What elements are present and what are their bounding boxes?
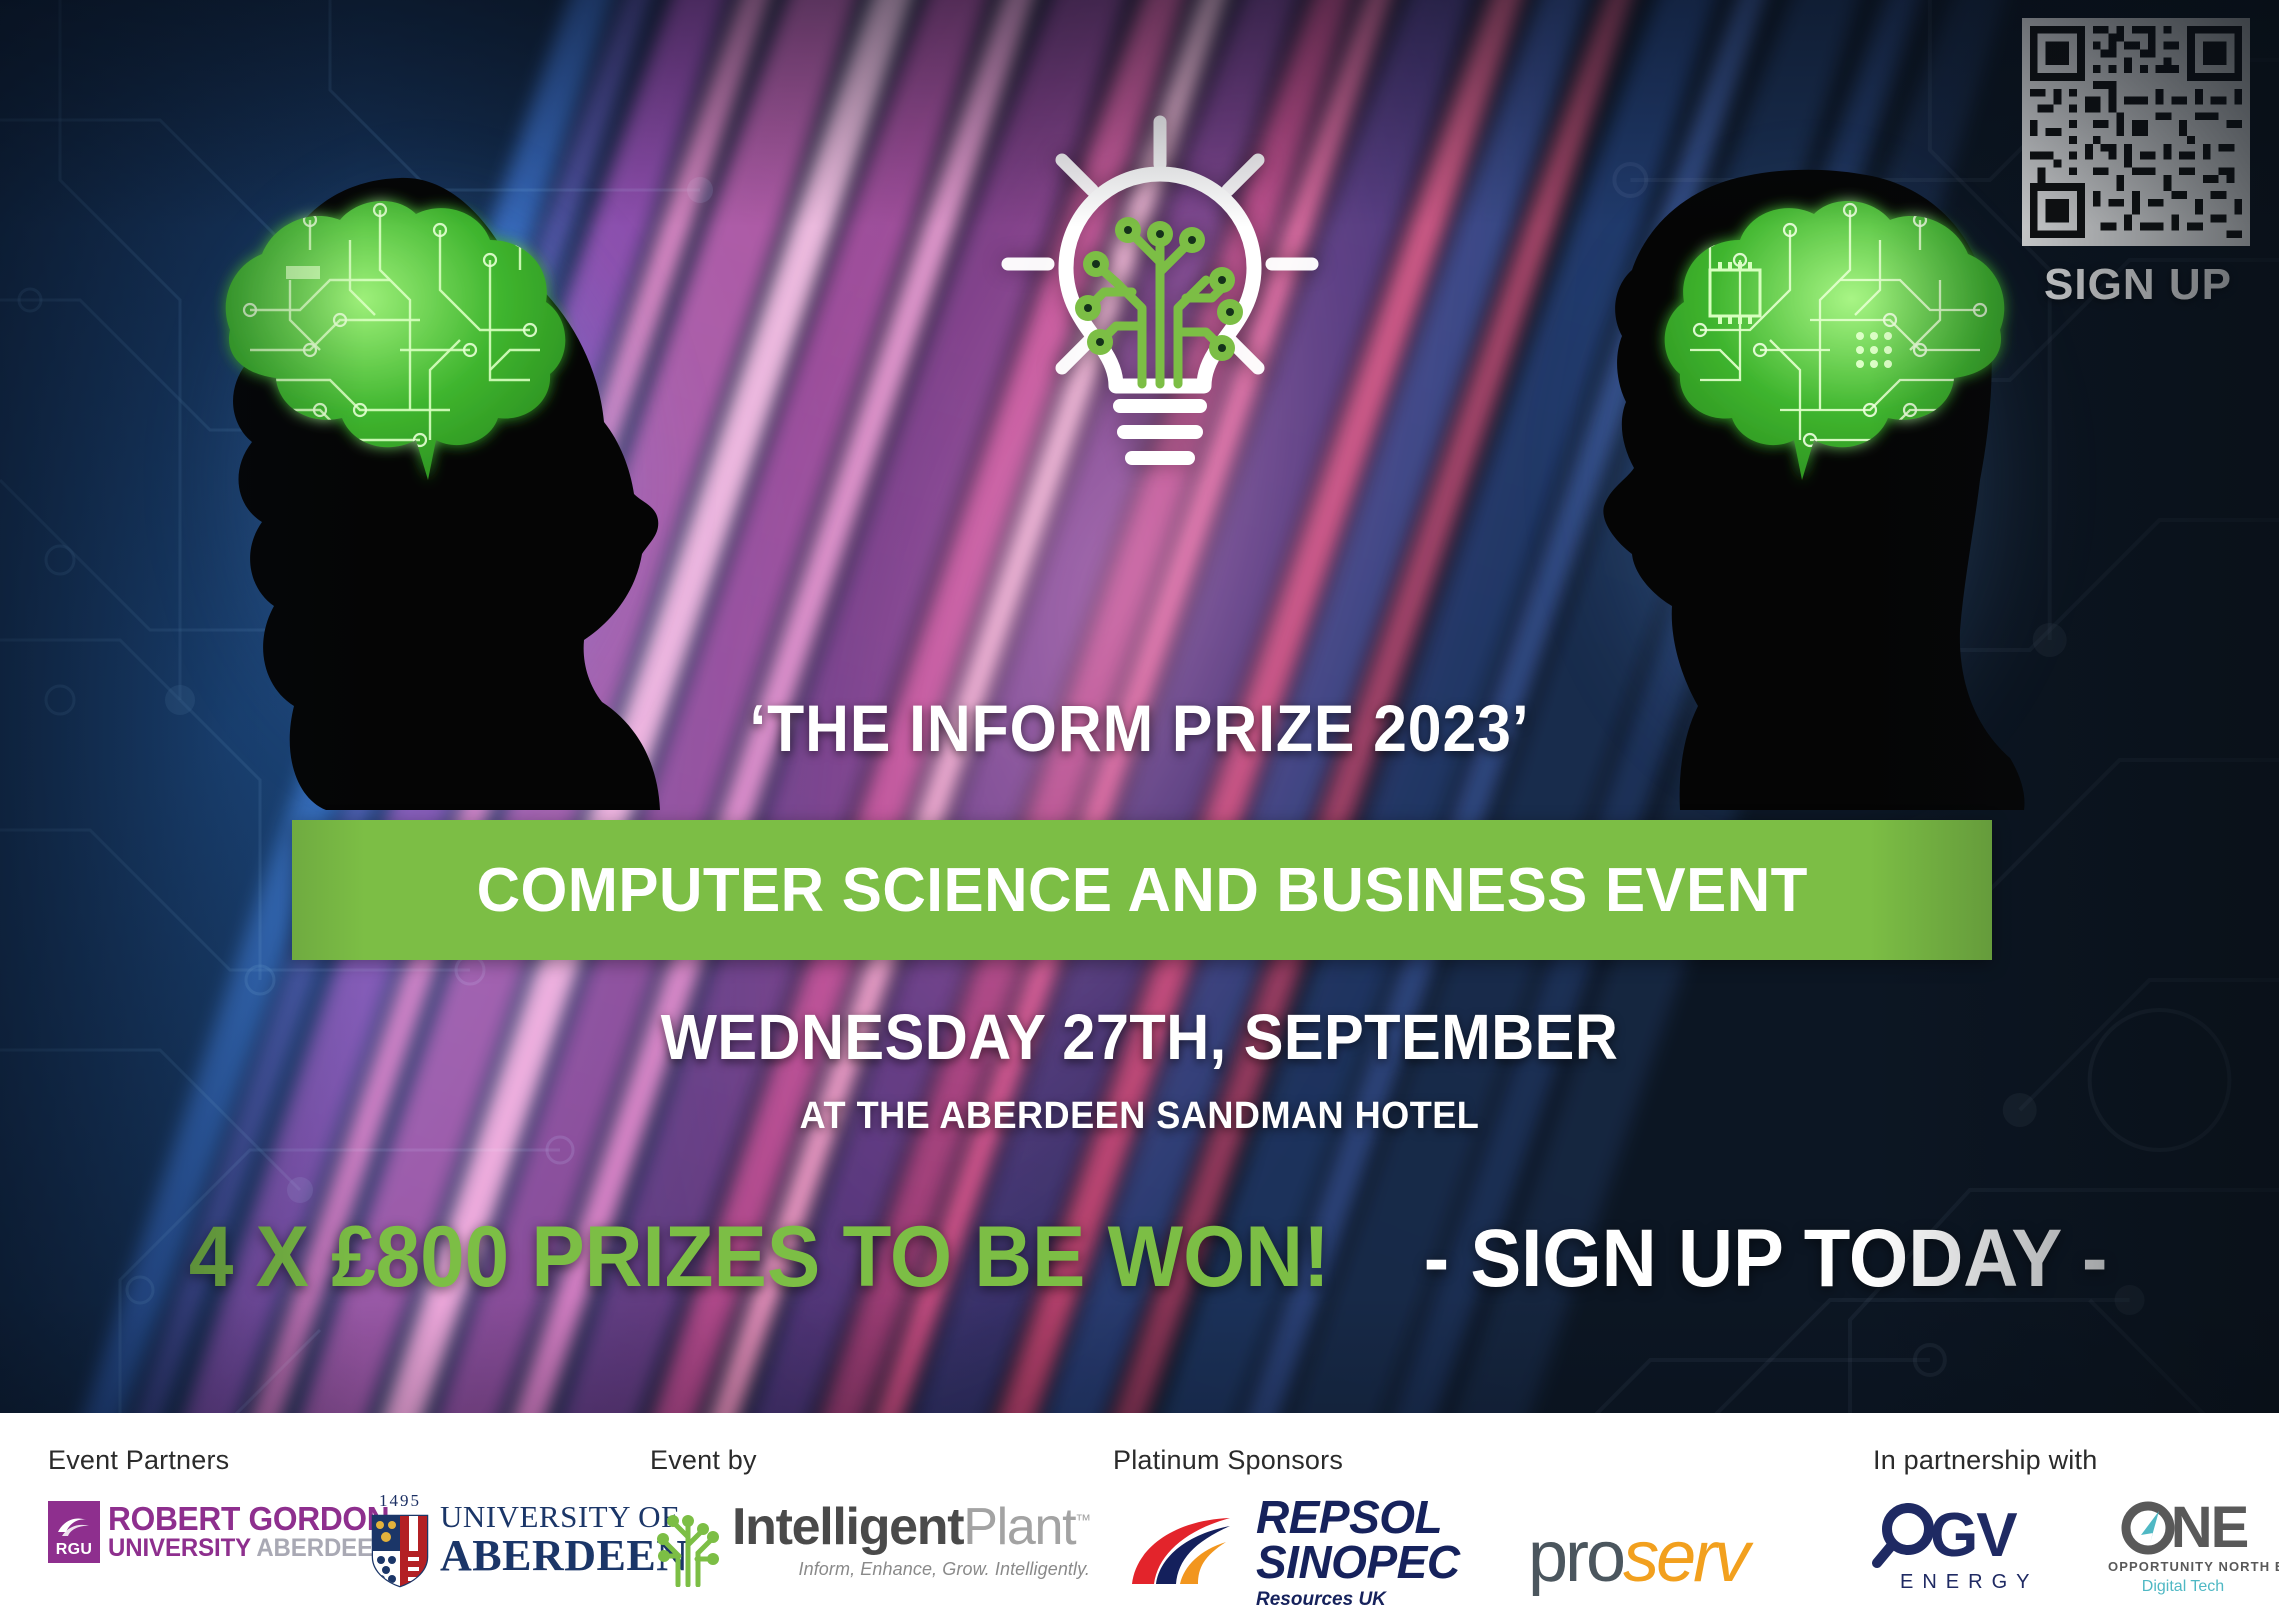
ogv-letters: GV — [1930, 1505, 2016, 1567]
footer-label-event-by: Event by — [650, 1445, 757, 1476]
logo-intelligent-plant[interactable]: IntelligentPlant™ Inform, Enhance, Grow.… — [650, 1501, 1090, 1587]
footer-label-platinum-sponsors: Platinum Sponsors — [1113, 1445, 1343, 1476]
one-letters: NE — [2171, 1499, 2248, 1557]
logo-university-of-aberdeen[interactable]: 1495 — [370, 1491, 689, 1589]
rgu-crest-icon — [56, 1514, 92, 1540]
sponsor-footer: Event Partners Event by Platinum Sponsor… — [0, 1413, 2279, 1621]
proserv-part1: pro — [1528, 1517, 1623, 1597]
one-subtitle: OPPORTUNITY NORTH EAST — [2108, 1559, 2258, 1574]
aberdeen-shield-icon — [370, 1513, 430, 1589]
logo-opportunity-north-east[interactable]: NE OPPORTUNITY NORTH EAST Digital Tech — [2108, 1499, 2258, 1596]
intelligent-plant-tree-icon — [650, 1501, 726, 1587]
one-digital-tech-label: Digital Tech — [2108, 1578, 2258, 1596]
repsol-swoosh-icon — [1130, 1512, 1248, 1596]
logo-robert-gordon-university[interactable]: RGU ROBERT GORDON UNIVERSITY ABERDEEN — [48, 1501, 402, 1563]
poster-canvas: SIGN UP ‘THE INFORM PRIZE 2023’ COMPUTER… — [0, 0, 2279, 1621]
footer-label-event-partners: Event Partners — [48, 1445, 229, 1476]
aberdeen-year: 1495 — [379, 1491, 421, 1511]
repsol-line1: REPSOL — [1256, 1495, 1460, 1540]
ogv-energy-label: ENERGY — [1900, 1571, 2038, 1594]
intelligent-plant-tm: ™ — [1075, 1513, 1090, 1530]
repsol-line3: Resources UK — [1256, 1588, 1460, 1613]
one-circle-arrow-icon — [2119, 1499, 2177, 1557]
rgu-badge-icon: RGU — [48, 1501, 100, 1563]
logo-ogv-energy[interactable]: GV ENERGY — [1872, 1503, 2038, 1594]
rgu-line2-university: UNIVERSITY — [108, 1534, 251, 1562]
proserv-part2: serv — [1623, 1517, 1747, 1597]
ogv-magnifier-icon — [1872, 1503, 1934, 1569]
intelligent-plant-name-light: Plant — [963, 1498, 1075, 1556]
logo-repsol-sinopec[interactable]: REPSOL SINOPEC Resources UK — [1130, 1495, 1460, 1613]
rgu-line1: ROBERT GORDON — [108, 1502, 390, 1536]
footer-label-in-partnership: In partnership with — [1873, 1445, 2097, 1476]
intelligent-plant-tagline: Inform, Enhance, Grow. Intelligently. — [732, 1559, 1090, 1580]
intelligent-plant-name-bold: Intelligent — [732, 1498, 963, 1556]
vignette-overlay — [0, 0, 2279, 1621]
logo-proserv[interactable]: proserv — [1528, 1521, 1747, 1593]
repsol-line2: SINOPEC — [1256, 1540, 1460, 1585]
rgu-badge-text: RGU — [56, 1542, 92, 1558]
